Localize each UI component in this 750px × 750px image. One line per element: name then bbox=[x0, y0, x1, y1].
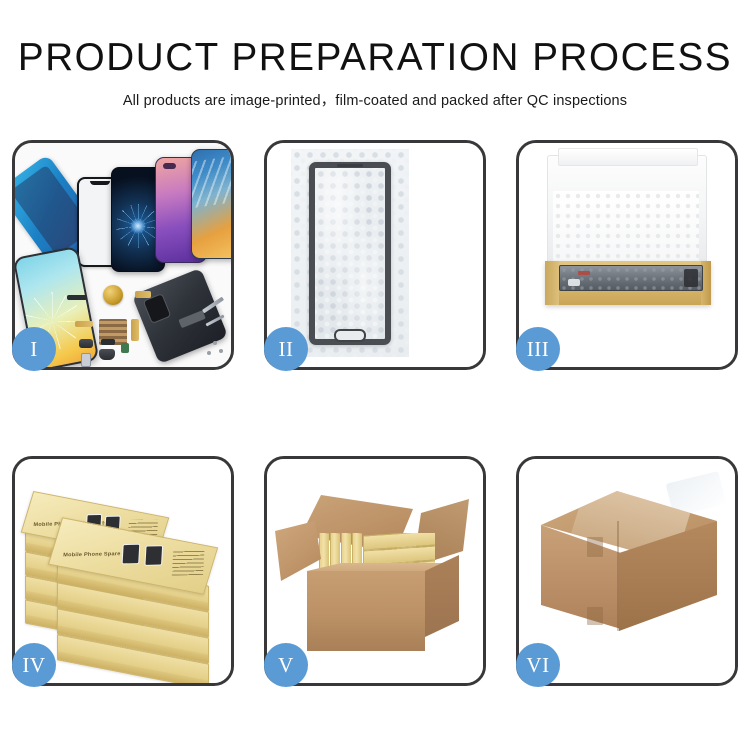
screw-icon bbox=[207, 351, 211, 355]
box-stack: Mobile Phone Spare Parts Mobile Phone Sp… bbox=[21, 475, 225, 671]
kraft-box-tray-icon bbox=[545, 261, 711, 305]
header: PRODUCT PREPARATION PROCESS All products… bbox=[0, 0, 750, 109]
step-badge-5: V bbox=[264, 643, 308, 687]
speaker-module-icon bbox=[79, 339, 93, 348]
process-step-panel-3[interactable]: III bbox=[516, 140, 738, 370]
red-marker-icon bbox=[578, 271, 590, 275]
box-spec-lines-icon bbox=[172, 550, 205, 576]
process-steps-grid: I II bbox=[12, 140, 738, 686]
white-label-icon bbox=[568, 279, 580, 286]
carton-tab-icon bbox=[587, 537, 603, 557]
step-badge-1: I bbox=[12, 327, 56, 371]
process-step-panel-6[interactable]: VI bbox=[516, 456, 738, 686]
box-artwork-thumb-icon bbox=[122, 544, 141, 565]
ic-chip-icon bbox=[101, 339, 115, 345]
carton-front-panel-icon bbox=[307, 571, 425, 651]
phone-back-housing-icon bbox=[132, 268, 228, 364]
wave-pattern-icon bbox=[191, 153, 231, 210]
battery-icon bbox=[81, 353, 91, 367]
flex-cable-icon bbox=[131, 319, 139, 341]
pcb-icon bbox=[121, 343, 129, 353]
screw-icon bbox=[213, 341, 217, 345]
flex-cable-icon bbox=[75, 321, 93, 327]
step-badge-6: VI bbox=[516, 643, 560, 687]
step-badge-3: III bbox=[516, 327, 560, 371]
carton-seam-icon bbox=[617, 521, 619, 631]
page-subtitle: All products are image-printed，film-coat… bbox=[0, 94, 750, 109]
wrapped-screen-icon bbox=[309, 162, 391, 345]
step-badge-4: IV bbox=[12, 643, 56, 687]
screw-icon bbox=[219, 349, 223, 353]
page-title: PRODUCT PREPARATION PROCESS bbox=[4, 38, 747, 77]
process-step-panel-2[interactable]: II bbox=[264, 140, 486, 370]
carton-tab-icon bbox=[587, 607, 603, 625]
process-step-panel-5[interactable]: V bbox=[264, 456, 486, 686]
process-step-panel-1[interactable]: I bbox=[12, 140, 234, 370]
speaker-coil-icon bbox=[103, 285, 123, 305]
box-lip-left-icon bbox=[545, 261, 559, 305]
step-badge-2: II bbox=[264, 327, 308, 371]
ic-chip-icon bbox=[67, 295, 87, 300]
vibrator-icon bbox=[99, 349, 115, 360]
glow-icon bbox=[130, 218, 146, 234]
bubble-texture-icon bbox=[315, 168, 385, 339]
box-artwork-thumb-icon bbox=[144, 545, 163, 566]
process-step-panel-4[interactable]: Mobile Phone Spare Parts Mobile Phone Sp… bbox=[12, 456, 234, 686]
packed-screen-icon bbox=[559, 265, 703, 291]
orange-phone-icon bbox=[191, 149, 231, 259]
product-preparation-infographic: PRODUCT PREPARATION PROCESS All products… bbox=[0, 0, 750, 750]
home-button-icon bbox=[334, 329, 366, 342]
flex-cable-icon bbox=[135, 291, 151, 298]
